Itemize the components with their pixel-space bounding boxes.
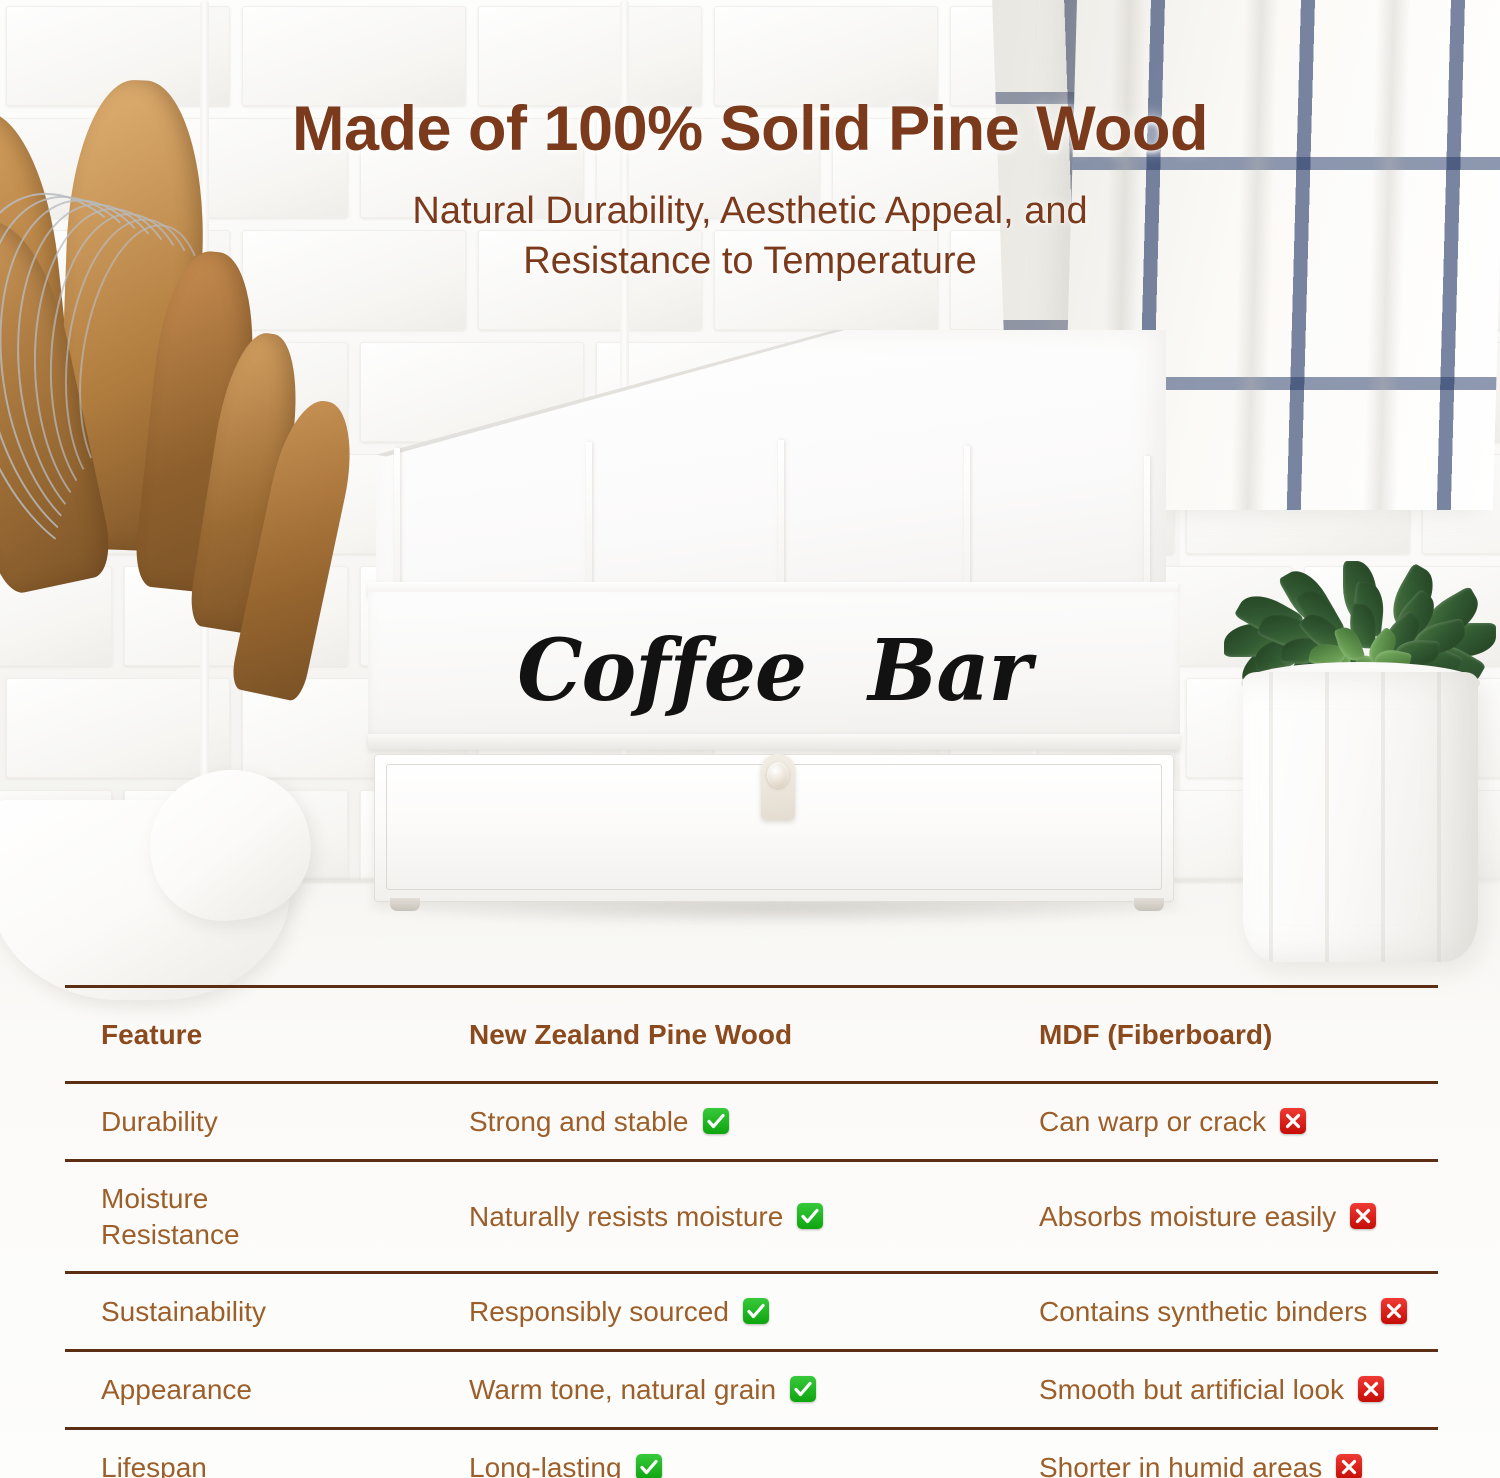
cell-pine: Long-lasting [433, 1429, 1003, 1478]
cell-mdf: Smooth but artificial look [1003, 1351, 1438, 1429]
check-icon [797, 1203, 823, 1229]
compartment-divider-1 [394, 448, 400, 599]
cell-pine: Warm tone, natural grain [433, 1351, 1003, 1429]
organizer-foot-left [390, 898, 420, 911]
header-cell-mdf: MDF (Fiberboard) [1003, 987, 1438, 1083]
heading-block: Made of 100% Solid Pine Wood Natural Dur… [0, 0, 1500, 286]
cell-feature: Sustainability [65, 1273, 433, 1351]
cell-pine: Naturally resists moisture [433, 1161, 1003, 1273]
pine-value-label: Strong and stable [469, 1104, 689, 1140]
mdf-value-label: Absorbs moisture easily [1039, 1199, 1336, 1235]
compartment-divider-4 [964, 446, 970, 599]
compartment-divider-3 [778, 440, 784, 599]
check-icon [790, 1376, 816, 1402]
mdf-value-label: Contains synthetic binders [1039, 1294, 1367, 1330]
mdf-value-label: Smooth but artificial look [1039, 1372, 1344, 1408]
cross-icon [1336, 1454, 1362, 1478]
table-row: Moisture ResistanceNaturally resists moi… [65, 1161, 1438, 1273]
check-icon [743, 1298, 769, 1324]
table-row: LifespanLong-lastingShorter in humid are… [65, 1429, 1438, 1478]
subtitle: Natural Durability, Aesthetic Appeal, an… [0, 186, 1500, 286]
table-row: DurabilityStrong and stableCan warp or c… [65, 1083, 1438, 1161]
cell-pine: Responsibly sourced [433, 1273, 1003, 1351]
header-label-feature: Feature [101, 1019, 202, 1050]
organizer-foot-right [1134, 898, 1164, 911]
organizer-band-bottom [368, 734, 1180, 750]
cell-feature: Lifespan [65, 1429, 433, 1478]
table-row: SustainabilityResponsibly sourcedContain… [65, 1273, 1438, 1351]
coffee-bar-script-label: Coffee Bar [368, 603, 1180, 738]
table-header-row: Feature New Zealand Pine Wood MDF (Fiber… [65, 987, 1438, 1083]
feature-label: Moisture Resistance [101, 1183, 240, 1250]
pine-value-label: Warm tone, natural grain [469, 1372, 776, 1408]
plant-pot [1243, 672, 1478, 962]
cell-feature: Moisture Resistance [65, 1161, 433, 1273]
table-head: Feature New Zealand Pine Wood MDF (Fiber… [65, 987, 1438, 1083]
mdf-value-label: Shorter in humid areas [1039, 1450, 1322, 1478]
feature-label: Lifespan [101, 1452, 207, 1478]
script-word-bar: Bar [868, 621, 1031, 721]
feature-label: Sustainability [101, 1296, 266, 1327]
script-word-coffee: Coffee [517, 621, 806, 721]
cross-icon [1381, 1298, 1407, 1324]
pine-value-label: Long-lasting [469, 1450, 622, 1478]
cell-feature: Appearance [65, 1351, 433, 1429]
table-row: AppearanceWarm tone, natural grainSmooth… [65, 1351, 1438, 1429]
material-comparison-table: Feature New Zealand Pine Wood MDF (Fiber… [65, 985, 1438, 1478]
cross-icon [1280, 1108, 1306, 1134]
check-icon [636, 1454, 662, 1478]
compartment-divider-5 [1144, 456, 1150, 599]
feature-label: Appearance [101, 1374, 252, 1405]
organizer-back-panel [376, 330, 1166, 620]
cell-mdf: Contains synthetic binders [1003, 1273, 1438, 1351]
cell-mdf: Absorbs moisture easily [1003, 1161, 1438, 1273]
header-label-mdf: MDF (Fiberboard) [1039, 1019, 1272, 1050]
wall-tile [6, 678, 230, 778]
pine-value-label: Naturally resists moisture [469, 1199, 783, 1235]
coffee-bar-organizer: Coffee Bar [338, 330, 1218, 930]
subtitle-line-2: Resistance to Temperature [0, 236, 1500, 286]
subtitle-line-1: Natural Durability, Aesthetic Appeal, an… [0, 186, 1500, 236]
mdf-value-label: Can warp or crack [1039, 1104, 1266, 1140]
cross-icon [1358, 1376, 1384, 1402]
check-icon [703, 1108, 729, 1134]
header-label-pine: New Zealand Pine Wood [469, 1019, 792, 1050]
infographic-canvas: Coffee Bar Made of 100% Solid Pine Wood … [0, 0, 1500, 1478]
cross-icon [1350, 1203, 1376, 1229]
header-cell-pine: New Zealand Pine Wood [433, 987, 1003, 1083]
pine-value-label: Responsibly sourced [469, 1294, 729, 1330]
cell-feature: Durability [65, 1083, 433, 1161]
drawer-knob [767, 762, 789, 788]
cell-mdf: Can warp or crack [1003, 1083, 1438, 1161]
table-body: DurabilityStrong and stableCan warp or c… [65, 1083, 1438, 1478]
cell-mdf: Shorter in humid areas [1003, 1429, 1438, 1478]
header-cell-feature: Feature [65, 987, 433, 1083]
main-title: Made of 100% Solid Pine Wood [0, 96, 1500, 162]
cell-pine: Strong and stable [433, 1083, 1003, 1161]
compartment-divider-2 [586, 442, 592, 599]
feature-label: Durability [101, 1106, 218, 1137]
